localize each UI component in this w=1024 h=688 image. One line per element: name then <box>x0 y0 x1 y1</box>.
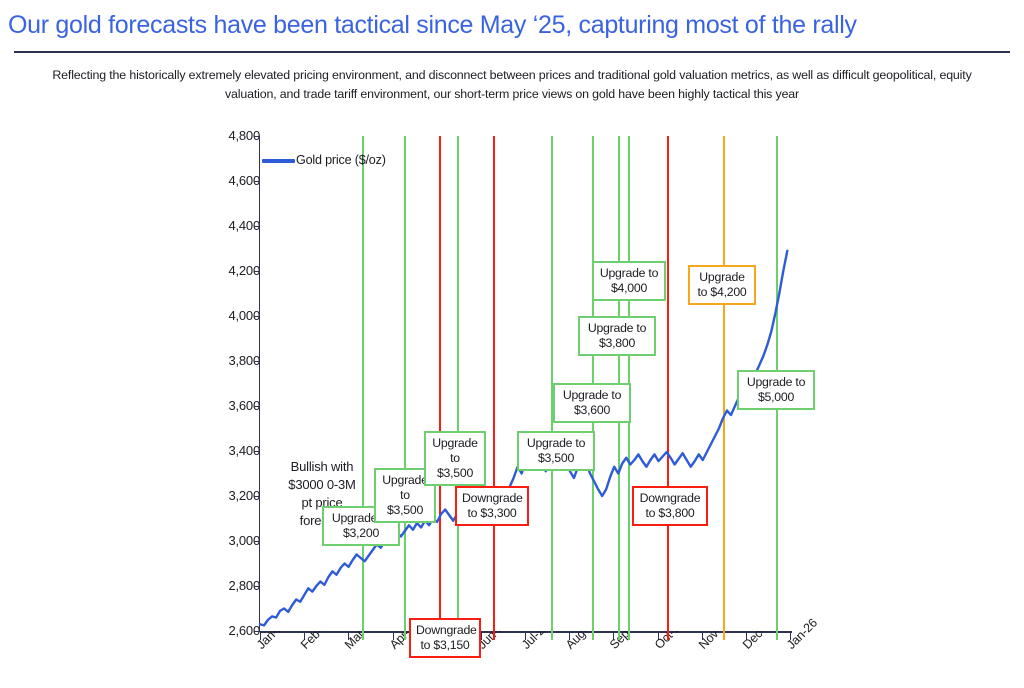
y-axis-label: 4,400 <box>200 218 260 233</box>
y-axis-label: 3,600 <box>200 398 260 413</box>
y-axis-label: 4,200 <box>200 263 260 278</box>
y-axis-tick <box>254 316 260 317</box>
y-axis: 2,6002,8003,0003,2003,4003,6003,8004,000… <box>186 136 260 631</box>
y-axis-label: 4,000 <box>200 308 260 323</box>
y-axis-label: 3,800 <box>200 353 260 368</box>
legend-label: Gold price ($/oz) <box>296 152 386 168</box>
y-axis-label: 4,800 <box>200 128 260 143</box>
y-axis-tick <box>254 496 260 497</box>
callout-e5: Downgrade to $3,300 <box>455 486 529 526</box>
y-axis-tick <box>254 136 260 137</box>
page-title: Our gold forecasts have been tactical si… <box>8 10 1018 40</box>
y-axis-tick <box>254 541 260 542</box>
callout-e8: Upgrade to $3,800 <box>578 316 656 356</box>
gold-price-chart: 2,6002,8003,0003,2003,4003,6003,8004,000… <box>0 118 1024 688</box>
callout-e3: Downgrade to $3,150 <box>409 618 481 658</box>
page-subtitle: Reflecting the historically extremely el… <box>52 66 972 104</box>
chart-legend: Gold price ($/oz) <box>262 152 386 168</box>
y-axis-label: 4,600 <box>200 173 260 188</box>
gold-price-line <box>260 136 790 631</box>
callout-e10: Downgrade to $3,800 <box>632 486 708 526</box>
y-axis-label: 3,200 <box>200 488 260 503</box>
title-divider <box>14 51 1010 53</box>
y-axis-tick <box>254 631 260 632</box>
y-axis-label: 3,000 <box>200 533 260 548</box>
callout-e6: Upgrade to $3,500 <box>517 431 595 471</box>
y-axis-tick <box>254 271 260 272</box>
y-axis-tick <box>254 361 260 362</box>
plot-area: Gold price ($/oz) Bullish with $3000 0-3… <box>260 136 790 631</box>
callout-e9: Upgrade to $4,000 <box>592 261 666 301</box>
y-axis-tick <box>254 181 260 182</box>
y-axis-label: 2,800 <box>200 578 260 593</box>
callout-e4: Upgrade to $3,500 <box>424 431 486 486</box>
slide-root: Our gold forecasts have been tactical si… <box>0 0 1024 688</box>
callout-e7: Upgrade to $3,600 <box>553 383 631 423</box>
y-axis-tick <box>254 406 260 407</box>
y-axis-tick <box>254 586 260 587</box>
callout-e12: Upgrade to $5,000 <box>737 370 815 410</box>
y-axis-tick <box>254 451 260 452</box>
y-axis-label: 2,600 <box>200 623 260 638</box>
y-axis-label: 3,400 <box>200 443 260 458</box>
y-axis-tick <box>254 226 260 227</box>
legend-swatch-gold-price <box>262 159 295 163</box>
callout-e11: Upgrade to $4,200 <box>688 265 756 305</box>
